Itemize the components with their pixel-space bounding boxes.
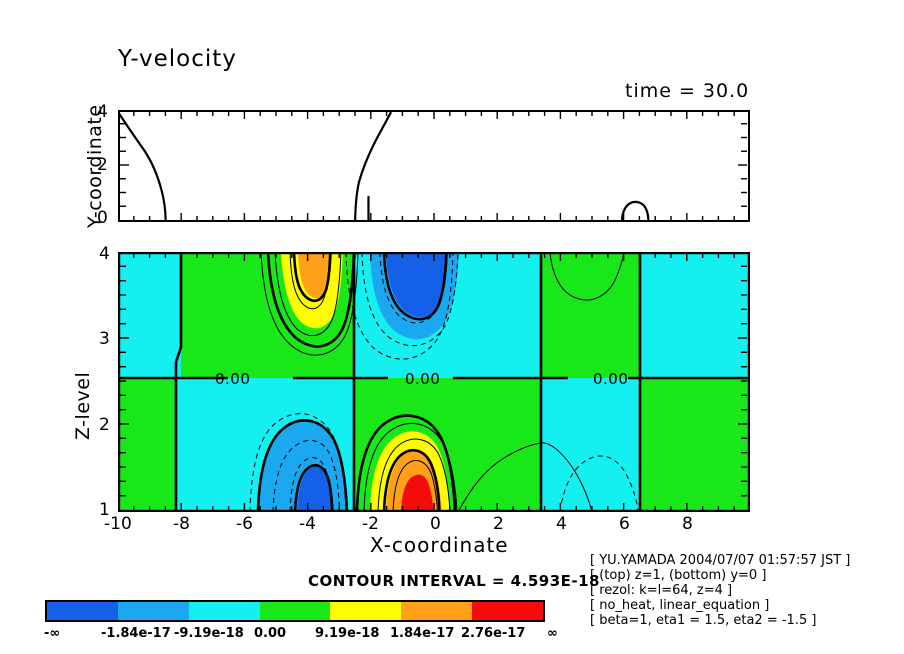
figure-canvas: Y-velocity time = 30.0 Y-coordinate 4 2 … — [0, 0, 904, 654]
metadata-line-4: [ beta=1, eta1 = 1.5, eta2 = -1.5 ] — [590, 613, 850, 628]
colorbar-tick-3: 0.00 — [254, 626, 286, 641]
main-xtick--8: -8 — [173, 514, 190, 534]
colorbar-tick-2: -9.19e-18 — [174, 626, 244, 641]
metadata-block: [ YU.YAMADA 2004/07/07 01:57:57 JST ] [ … — [590, 553, 850, 628]
colorbar-swatch-1 — [118, 602, 189, 620]
colorbar-tick-6: 2.76e-17 — [461, 626, 525, 641]
colorbar-swatch-4 — [330, 602, 401, 620]
main-xtick-2: 2 — [493, 514, 504, 534]
metadata-line-2: [ rezol: k=l=64, z=4 ] — [590, 583, 850, 598]
metadata-line-1: [ (top) z=1, (bottom) y=0 ] — [590, 568, 850, 583]
main-xtick--6: -6 — [236, 514, 253, 534]
colorbar — [45, 600, 545, 622]
main-ytick-2: 2 — [99, 415, 110, 435]
top-ytick-0: 0 — [97, 208, 108, 228]
main-xtick-8: 8 — [682, 514, 693, 534]
colorbar-tick-4: 9.19e-18 — [315, 626, 379, 641]
top-ytick-2: 2 — [97, 155, 108, 175]
main-ytick-3: 3 — [99, 329, 110, 349]
metadata-line-0: [ YU.YAMADA 2004/07/07 01:57:57 JST ] — [590, 553, 850, 568]
main-xtick-0: 0 — [430, 514, 441, 534]
colorbar-title: CONTOUR INTERVAL = 4.593E-18 — [308, 572, 600, 590]
colorbar-tick-5: 1.84e-17 — [390, 626, 454, 641]
main-panel-xlabel: X-coordinate — [370, 533, 509, 557]
main-xtick--4: -4 — [299, 514, 316, 534]
colorbar-tick-0: -∞ — [44, 626, 60, 641]
main-panel-ylabel: Z-level — [72, 372, 94, 440]
colorbar-swatch-0 — [47, 602, 118, 620]
contour-label-2: 0.00 — [593, 370, 628, 388]
contour-label-1: 0.00 — [405, 370, 440, 388]
page-title: Y-velocity — [118, 46, 237, 72]
main-xtick--10: -10 — [104, 514, 132, 534]
main-ytick-4: 4 — [99, 244, 110, 264]
time-label: time = 30.0 — [625, 80, 749, 102]
main-xtick-6: 6 — [619, 514, 630, 534]
colorbar-tick-7: ∞ — [547, 626, 558, 641]
metadata-line-3: [ no_heat, linear_equation ] — [590, 598, 850, 613]
contour-label-0: 0.00 — [215, 370, 250, 388]
colorbar-swatch-2 — [189, 602, 260, 620]
colorbar-swatch-3 — [260, 602, 331, 620]
main-xtick-4: 4 — [556, 514, 567, 534]
colorbar-swatch-5 — [401, 602, 472, 620]
main-xtick--2: -2 — [362, 514, 379, 534]
top-ytick-4: 4 — [97, 102, 108, 122]
top-panel-plot — [118, 110, 750, 222]
colorbar-swatch-6 — [472, 602, 543, 620]
colorbar-tick-1: -1.84e-17 — [101, 626, 171, 641]
